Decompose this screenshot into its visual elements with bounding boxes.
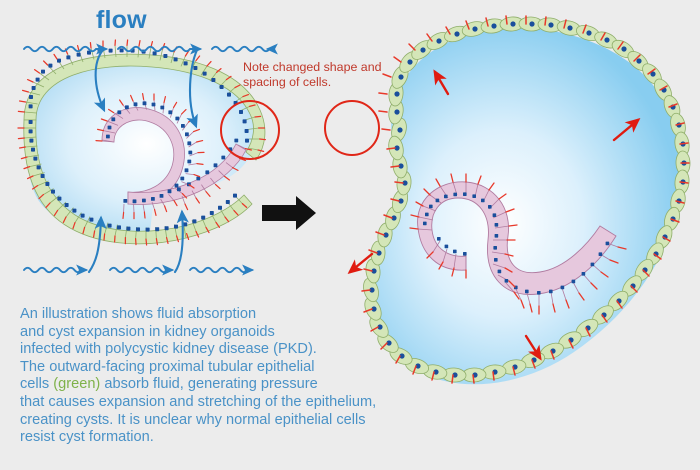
figure-caption: An illustration shows fluid absorption a…	[20, 306, 460, 447]
caption-line-2: and cyst expansion in kidney organoids	[20, 324, 275, 340]
caption-line-8: resist cyst formation.	[20, 429, 154, 445]
note-annotation: Note changed shape and spacing of cells.	[243, 60, 383, 89]
highlight-circle-right	[325, 101, 379, 155]
illustration-stage: flow Note changed shape and spacing of c…	[0, 0, 700, 470]
caption-line-1: An illustration shows fluid absorption	[20, 306, 256, 322]
flow-arrows-bottom	[24, 268, 252, 272]
flow-arrows-top	[24, 47, 270, 51]
caption-line-5-b: absorb fluid, generating pressure	[100, 376, 317, 392]
transition-arrow	[262, 196, 316, 230]
flow-label: flow	[96, 6, 147, 35]
caption-line-4: The outward-facing proximal tubular epit…	[20, 359, 314, 375]
caption-line-5-a: cells	[20, 376, 53, 392]
caption-line-3: infected with polycystic kidney disease …	[20, 341, 317, 357]
caption-green-word: (green)	[53, 376, 100, 392]
caption-line-6: that causes expansion and stretching of …	[20, 394, 376, 410]
caption-line-7: creating cysts. It is unclear why normal…	[20, 412, 366, 428]
